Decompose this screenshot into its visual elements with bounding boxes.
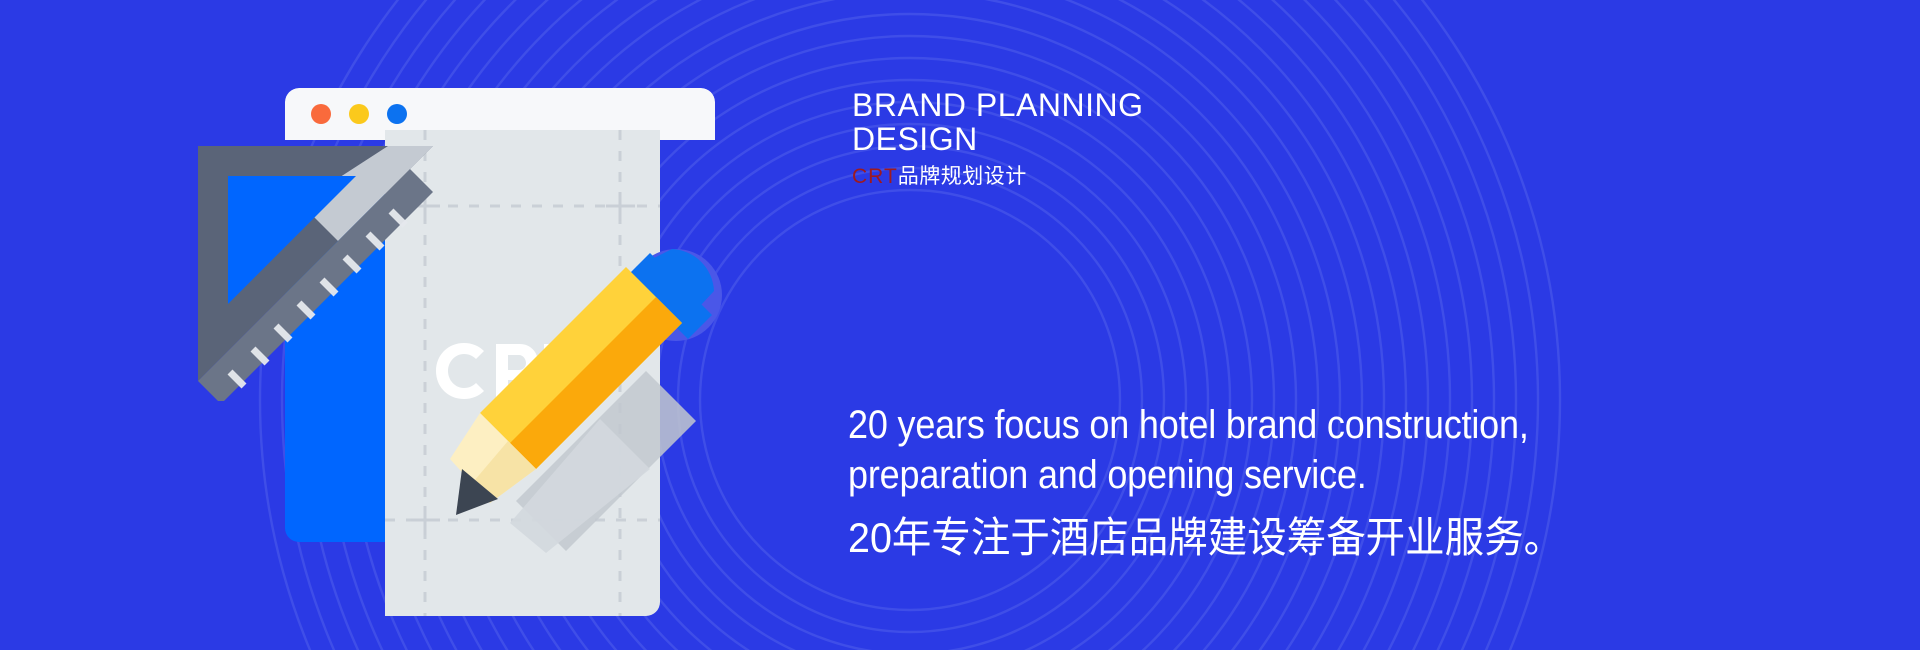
tagline-chinese: 20年专注于酒店品牌建设筹备开业服务。 (848, 512, 1713, 564)
brand-banner: BRAND PLANNING DESIGN CRT品牌规划设计 20 years… (0, 0, 1920, 650)
headline-block: BRAND PLANNING DESIGN CRT品牌规划设计 (852, 88, 1412, 190)
subtitle-chinese-text: 品牌规划设计 (898, 165, 1027, 188)
maximize-dot-icon (387, 104, 407, 124)
close-dot-icon (311, 104, 331, 124)
tagline-english: 20 years focus on hotel brand constructi… (848, 400, 1676, 500)
page-title: BRAND PLANNING DESIGN (852, 88, 1412, 156)
triangle-ruler-icon (188, 136, 453, 401)
subtitle-chinese: CRT品牌规划设计 (852, 164, 1412, 190)
brand-name-crt: CRT (852, 165, 898, 188)
hero-illustration (230, 78, 770, 558)
minimize-dot-icon (349, 104, 369, 124)
pencil-icon (450, 223, 740, 553)
tagline-block: 20 years focus on hotel brand constructi… (848, 400, 1768, 564)
